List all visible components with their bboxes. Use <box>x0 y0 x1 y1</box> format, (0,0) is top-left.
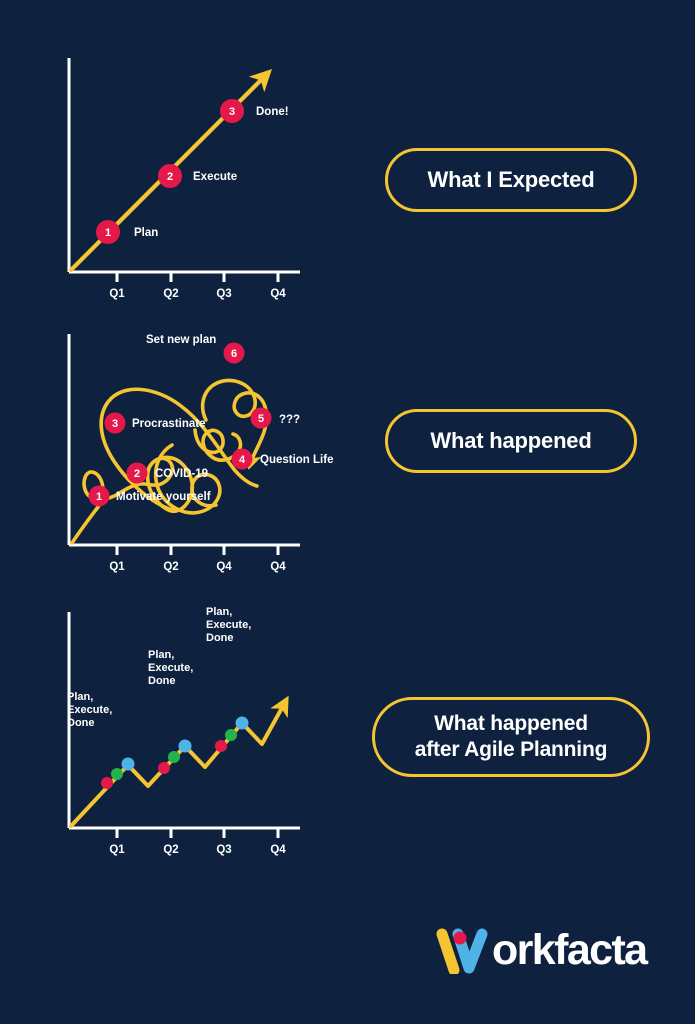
x-tick-label: Q2 <box>163 288 178 300</box>
dot-done <box>236 717 249 730</box>
cycle-label-line: Done <box>206 632 234 644</box>
milestone-label: ??? <box>279 414 300 426</box>
badge-number: 3 <box>229 106 235 118</box>
dot-execute <box>111 768 123 780</box>
cycle-label-line: Execute, <box>148 662 193 674</box>
cycle-dots-1 <box>101 758 135 790</box>
milestone-marker-6: 6 Set new plan <box>146 334 245 364</box>
cycle-label-line: Execute, <box>67 704 112 716</box>
milestone-label: Plan <box>134 227 158 239</box>
x-tick-label: Q4 <box>270 844 286 856</box>
badge-number: 1 <box>96 491 102 503</box>
workfacta-w-mark-icon <box>432 926 494 974</box>
callout-pill-agile[interactable]: What happened after Agile Planning <box>372 697 650 777</box>
milestone-marker-2: 2 Execute <box>158 164 237 188</box>
dot-plan <box>101 777 113 789</box>
logo-wordmark: orkfacta <box>492 929 647 972</box>
badge-number: 3 <box>112 418 118 430</box>
callout-pill-label: What happened <box>430 428 591 454</box>
x-tick-label: Q2 <box>163 844 178 856</box>
dot-done <box>179 740 192 753</box>
milestone-label: Motivate yourself <box>116 491 211 503</box>
milestone-marker-3: 3 Done! <box>220 99 289 123</box>
x-tick-label: Q1 <box>109 561 125 573</box>
milestone-marker-4: 4 Question Life <box>232 449 334 470</box>
milestone-label: Procrastinate <box>132 418 206 430</box>
dot-execute <box>225 729 237 741</box>
workfacta-logo[interactable]: orkfacta <box>432 924 642 976</box>
x-tick-label: Q3 <box>216 288 231 300</box>
cycle-label-line: Plan, <box>148 649 174 661</box>
callout-pill-expected[interactable]: What I Expected <box>385 148 637 212</box>
cycle-label-line: Plan, <box>206 606 232 618</box>
x-tick-label: Q4 <box>270 561 286 573</box>
chart-expected: Q1 Q2 Q3 Q4 1 Plan 2 Execute <box>0 0 360 320</box>
x-tick-label: Q1 <box>109 288 125 300</box>
sawtooth-trend-line <box>71 706 283 826</box>
dot-plan <box>215 740 227 752</box>
cycle-label-1: Plan, Execute, Done <box>67 691 112 729</box>
milestone-label: Execute <box>193 171 237 183</box>
w-red-dot <box>454 932 467 945</box>
callout-pill-label-line2: after Agile Planning <box>415 737 607 763</box>
callout-pill-happened[interactable]: What happened <box>385 409 637 473</box>
badge-number: 2 <box>134 468 140 480</box>
dot-done <box>122 758 135 771</box>
cycle-label-line: Execute, <box>206 619 251 631</box>
badge-number: 2 <box>167 171 173 183</box>
callout-pill-label: What I Expected <box>428 167 595 193</box>
milestone-label: Question Life <box>260 454 333 466</box>
chart-happened: Q1 Q2 Q4 Q4 1 Motivate yourself <box>0 310 370 600</box>
milestone-label: COVID-19 <box>155 468 208 480</box>
chart-agile: Q1 Q2 Q3 Q4 <box>0 590 370 880</box>
infographic-canvas: Q1 Q2 Q3 Q4 1 Plan 2 Execute <box>0 0 695 1024</box>
milestone-marker-1: 1 Plan <box>96 220 158 244</box>
milestone-label: Set new plan <box>146 334 216 346</box>
cycle-label-line: Plan, <box>67 691 93 703</box>
badge-number: 6 <box>231 348 237 360</box>
milestone-label: Done! <box>256 106 289 118</box>
cycle-dots-3 <box>215 717 249 753</box>
squiggle-path-lower <box>72 389 257 543</box>
badge-number: 4 <box>239 454 246 466</box>
callout-pill-label-line1: What happened <box>415 711 607 737</box>
x-tick-label: Q1 <box>109 844 125 856</box>
cycle-label-3: Plan, Execute, Done <box>206 606 251 644</box>
x-tick-label: Q3 <box>216 844 231 856</box>
x-tick-label: Q2 <box>163 561 178 573</box>
dot-plan <box>158 762 170 774</box>
badge-number: 5 <box>258 413 264 425</box>
milestone-marker-5: 5 ??? <box>251 408 301 429</box>
x-tick-label: Q4 <box>216 561 232 573</box>
cycle-label-2: Plan, Execute, Done <box>148 649 193 687</box>
cycle-label-line: Done <box>148 675 176 687</box>
badge-number: 1 <box>105 227 111 239</box>
cycle-dots-2 <box>158 740 192 775</box>
dot-execute <box>168 751 180 763</box>
w-left-stroke <box>442 934 454 970</box>
cycle-label-line: Done <box>67 717 95 729</box>
x-tick-label: Q4 <box>270 288 286 300</box>
